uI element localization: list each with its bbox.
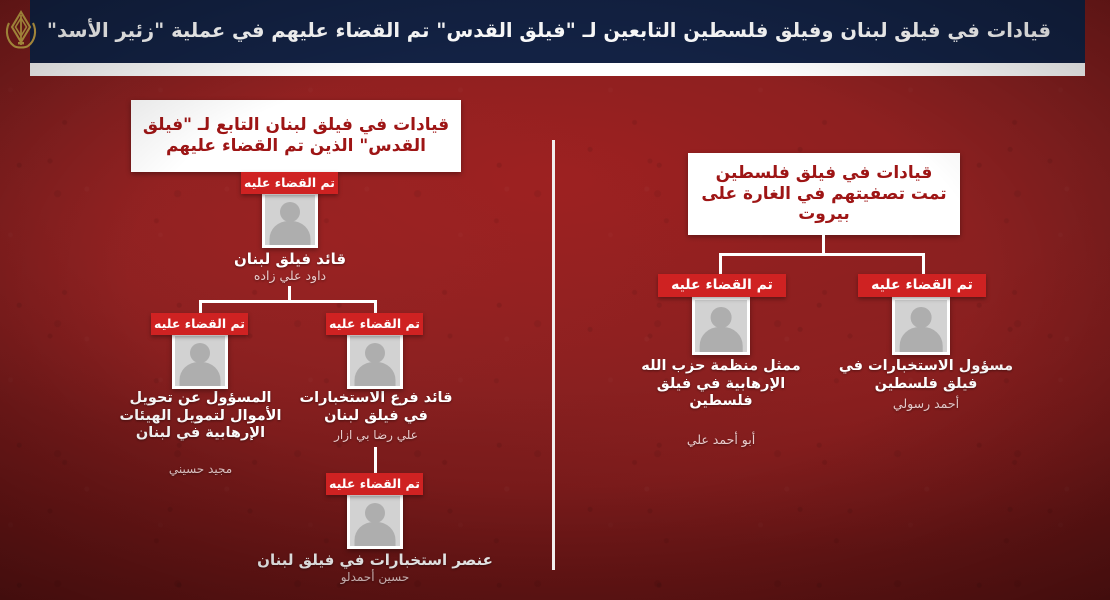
header-emblems bbox=[0, 9, 41, 55]
person-hezbollah-representative: أبو أحمد علي bbox=[632, 432, 810, 447]
connector-left-drop-funds bbox=[199, 300, 202, 314]
avatar-palestine-intelligence-official bbox=[892, 297, 950, 355]
right-panel-title: قيادات في فيلق فلسطين تمت تصفيتهم في الغ… bbox=[688, 153, 960, 235]
role-intelligence-operative: عنصر استخبارات في فيلق لبنان bbox=[250, 551, 500, 569]
header-bar: قيادات في فيلق لبنان وفيلق فلسطين التابع… bbox=[30, 0, 1085, 63]
badge-intelligence-branch-commander: تم القضاء عليه bbox=[326, 313, 423, 335]
person-intelligence-branch-commander: علي رضا بي ازار bbox=[291, 428, 461, 442]
person-funds-transfer-official: مجيد حسيني bbox=[112, 462, 289, 476]
panel-divider bbox=[552, 140, 555, 570]
header-underline bbox=[30, 63, 1085, 76]
role-intelligence-branch-commander: قائد فرع الاستخبارات في فيلق لبنان bbox=[291, 390, 461, 425]
page-title: قيادات في فيلق لبنان وفيلق فلسطين التابع… bbox=[47, 20, 1069, 42]
connector-right-drop-intel bbox=[922, 253, 925, 275]
person-intelligence-operative: حسين أحمدلو bbox=[250, 570, 500, 584]
badge-intelligence-operative: تم القضاء عليه bbox=[326, 473, 423, 495]
connector-right-trunk bbox=[822, 235, 825, 255]
infographic-canvas: قيادات في فيلق لبنان وفيلق فلسطين التابع… bbox=[0, 0, 1110, 600]
avatar-lebanon-corps-commander bbox=[262, 192, 318, 248]
badge-palestine-intelligence-official: تم القضاء عليه bbox=[858, 274, 986, 297]
badge-lebanon-corps-commander: تم القضاء عليه bbox=[241, 172, 338, 194]
connector-left-horizontal bbox=[199, 300, 377, 303]
connector-left-down-2 bbox=[374, 447, 377, 475]
connector-left-drop-intel bbox=[374, 300, 377, 314]
connector-right-drop-hezbollah bbox=[719, 253, 722, 275]
avatar-intelligence-operative bbox=[347, 493, 403, 549]
badge-hezbollah-representative: تم القضاء عليه bbox=[658, 274, 786, 297]
person-palestine-intelligence-official: أحمد رسولي bbox=[838, 396, 1014, 411]
role-palestine-intelligence-official: مسؤول الاستخبارات في فيلق فلسطين bbox=[838, 358, 1014, 393]
role-funds-transfer-official: المسؤول عن تحويل الأموال لتمويل الهيئات … bbox=[112, 390, 289, 443]
idf-emblem-icon bbox=[1, 9, 41, 55]
avatar-hezbollah-representative bbox=[692, 297, 750, 355]
role-lebanon-corps-commander: قائد فيلق لبنان bbox=[200, 250, 380, 268]
left-panel-title: قيادات في فيلق لبنان التابع لـ "فيلق الق… bbox=[131, 100, 461, 172]
badge-funds-transfer-official: تم القضاء عليه bbox=[151, 313, 248, 335]
connector-right-horizontal bbox=[719, 253, 925, 256]
avatar-intelligence-branch-commander bbox=[347, 333, 403, 389]
avatar-funds-transfer-official bbox=[172, 333, 228, 389]
role-hezbollah-representative: ممثل منظمة حزب الله الإرهابية في فيلق فل… bbox=[632, 358, 810, 411]
person-lebanon-corps-commander: داود علي زاده bbox=[200, 268, 380, 283]
